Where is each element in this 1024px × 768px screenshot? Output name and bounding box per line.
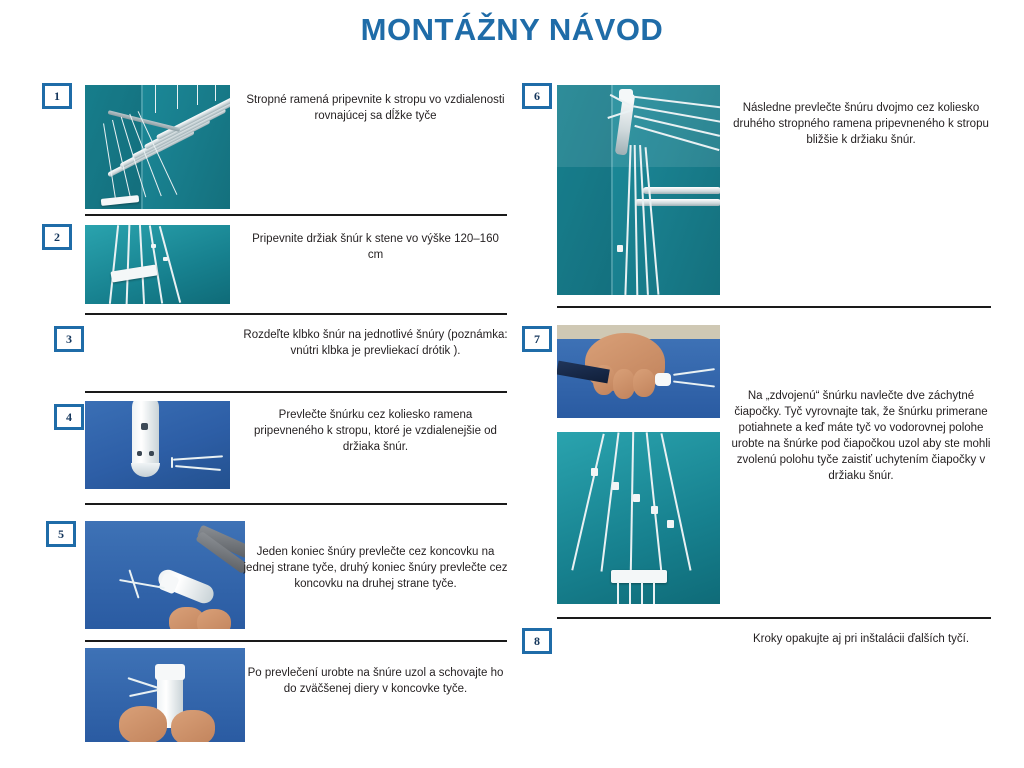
- step-number-5: 5: [58, 527, 64, 542]
- cords-with-caps-in-holder-photo: [557, 432, 720, 604]
- step-caption-1: Stropné ramená pripevnite k stropu vo vz…: [243, 92, 508, 124]
- step-number-3: 3: [66, 332, 72, 347]
- wall-cord-holder-photo: [85, 225, 230, 304]
- step-caption-5: Jeden koniec šnúry prevlečte cez koncovk…: [243, 544, 508, 592]
- step-number-8: 8: [534, 634, 540, 649]
- divider-7: [557, 617, 991, 619]
- divider-3: [85, 391, 507, 393]
- ceiling-arms-mounted-photo: [85, 85, 230, 209]
- montazny-navod-page: MONTÁŽNY NÁVOD 1 Stropné ramená pripevni…: [0, 0, 1024, 768]
- step-caption-2: Pripevnite držiak šnúr k stene vo výške …: [243, 231, 508, 263]
- divider-5: [85, 640, 507, 642]
- rod-end-cap-threading-photo: [85, 521, 245, 629]
- step-badge-6: 6: [522, 83, 552, 109]
- step-caption-5b: Po prevlečení urobte na šnúre uzol a sch…: [243, 665, 508, 697]
- step-caption-6: Následne prevlečte šnúru dvojmo cez koli…: [731, 100, 991, 148]
- step-badge-2: 2: [42, 224, 72, 250]
- page-title: MONTÁŽNY NÁVOD: [0, 12, 1024, 48]
- step-number-4: 4: [66, 410, 72, 425]
- second-ceiling-arm-photo: [557, 85, 720, 295]
- step-number-1: 1: [54, 89, 60, 104]
- divider-2: [85, 313, 507, 315]
- step-caption-7: Na „zdvojenú“ šnúrku navlečte dve záchyt…: [731, 388, 991, 484]
- knot-hidden-in-rod-end-photo: [85, 648, 245, 742]
- arm-pulley-closeup-photo: [85, 401, 230, 489]
- step-badge-3: 3: [54, 326, 84, 352]
- retaining-cap-in-hand-photo: [557, 325, 720, 418]
- divider-6: [557, 306, 991, 308]
- step-badge-7: 7: [522, 326, 552, 352]
- step-badge-8: 8: [522, 628, 552, 654]
- divider-1: [85, 214, 507, 216]
- step-badge-4: 4: [54, 404, 84, 430]
- step-caption-8: Kroky opakujte aj pri inštalácii ďalších…: [731, 631, 991, 647]
- step-badge-1: 1: [42, 83, 72, 109]
- step-number-7: 7: [534, 332, 540, 347]
- step-badge-5: 5: [46, 521, 76, 547]
- step-caption-3: Rozdeľte klbko šnúr na jednotlivé šnúry …: [243, 327, 508, 359]
- divider-4: [85, 503, 507, 505]
- step-number-6: 6: [534, 89, 540, 104]
- step-number-2: 2: [54, 230, 60, 245]
- step-caption-4: Prevlečte šnúrku cez koliesko ramena pri…: [243, 407, 508, 455]
